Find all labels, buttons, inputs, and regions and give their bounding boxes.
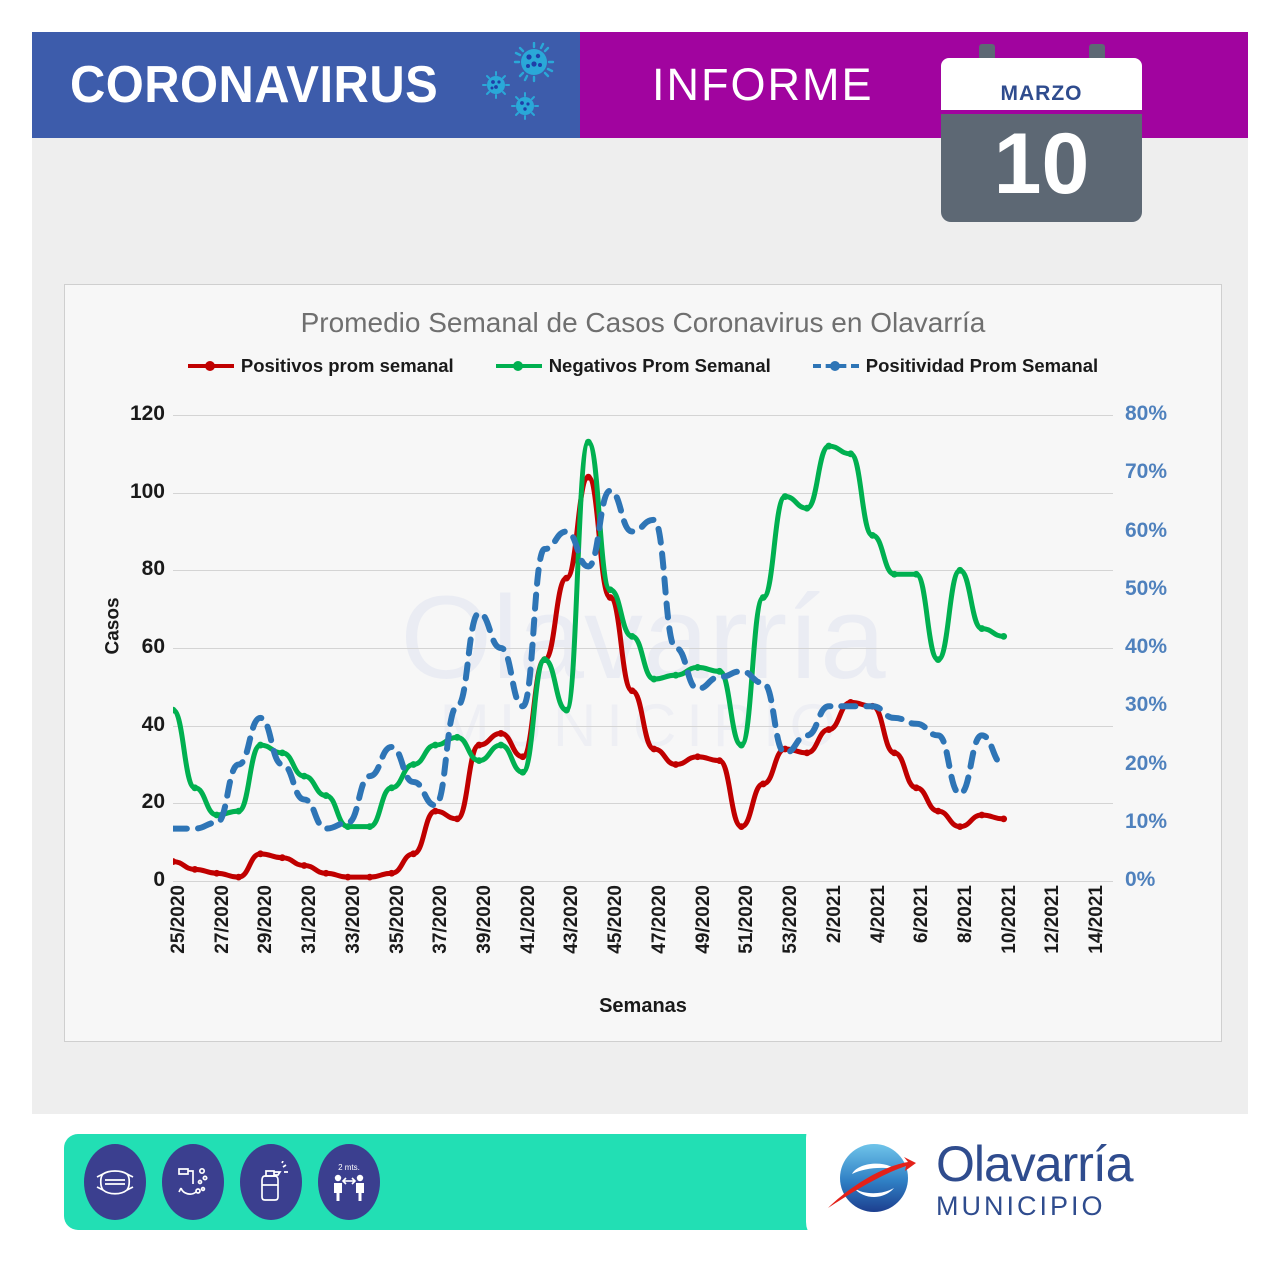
series-point-0 — [454, 815, 461, 822]
series-point-1 — [279, 749, 286, 756]
series-point-0 — [760, 781, 767, 788]
series-point-1 — [804, 505, 811, 512]
plot-area: Casos % Positividad 0204060801001200%10%… — [173, 415, 1113, 881]
header-brand-bar: CORONAVIRUS — [32, 32, 580, 138]
series-point-1 — [235, 808, 242, 815]
y2-tick-label: 10% — [1125, 810, 1222, 834]
series-point-0 — [191, 866, 198, 873]
series-point-0 — [891, 749, 898, 756]
x-tick-label: 25/2020 — [168, 885, 190, 954]
series-point-0 — [410, 850, 417, 857]
series-point-1 — [694, 664, 701, 671]
series-point-0 — [672, 761, 679, 768]
series-point-1 — [366, 823, 373, 830]
logo-subtitle: MUNICIPIO — [936, 1191, 1133, 1222]
legend-swatch-1 — [496, 359, 542, 373]
legend-label-0: Positivos prom semanal — [241, 355, 454, 377]
x-tick-label: 51/2020 — [736, 885, 758, 954]
x-tick-label: 27/2020 — [212, 885, 234, 954]
series-point-0 — [651, 746, 658, 753]
series-point-1 — [607, 586, 614, 593]
series-point-1 — [410, 761, 417, 768]
x-tick-label: 10/2021 — [999, 885, 1021, 954]
series-point-1 — [847, 450, 854, 457]
series-point-1 — [519, 769, 526, 776]
distance-text: 2 mts. — [338, 1163, 360, 1172]
series-point-0 — [498, 730, 505, 737]
x-tick-label: 29/2020 — [255, 885, 277, 954]
legend-label-2: Positividad Prom Semanal — [866, 355, 1098, 377]
series-point-0 — [978, 812, 985, 819]
prevention-bar: 2 mts. — [64, 1134, 834, 1230]
series-point-1 — [957, 567, 964, 574]
series-point-0 — [213, 870, 220, 877]
series-point-0 — [738, 823, 745, 830]
legend-swatch-2 — [813, 359, 859, 373]
y2-tick-label: 80% — [1125, 402, 1222, 426]
series-point-1 — [388, 784, 395, 791]
series-point-0 — [563, 575, 570, 582]
series-canvas — [173, 415, 1113, 881]
calendar-badge: MARZO 10 — [941, 44, 1142, 222]
y2-tick-label: 50% — [1125, 577, 1222, 601]
series-point-1 — [498, 742, 505, 749]
series-point-0 — [957, 823, 964, 830]
virus-icon — [472, 42, 582, 128]
x-tick-label: 53/2020 — [780, 885, 802, 954]
series-point-1 — [344, 823, 351, 830]
series-point-1 — [913, 571, 920, 578]
series-point-0 — [519, 753, 526, 760]
chart-card: Olavarría MUNICIPIO Promedio Semanal de … — [64, 284, 1222, 1042]
series-point-1 — [585, 439, 592, 446]
series-point-1 — [563, 707, 570, 714]
chart-legend: Positivos prom semanalNegativos Prom Sem… — [65, 355, 1221, 377]
series-point-0 — [804, 749, 811, 756]
y2-tick-label: 20% — [1125, 752, 1222, 776]
series-point-1 — [716, 668, 723, 675]
logo-text: Olavarría MUNICIPIO — [936, 1139, 1133, 1222]
mask-icon — [84, 1144, 146, 1220]
series-point-1 — [454, 734, 461, 741]
series-point-1 — [738, 742, 745, 749]
legend-swatch-0 — [188, 359, 234, 373]
x-tick-label: 31/2020 — [299, 885, 321, 954]
calendar-body: 10 — [941, 114, 1142, 222]
social-distance-icon: 2 mts. — [318, 1144, 380, 1220]
series-point-0 — [913, 784, 920, 791]
series-point-1 — [760, 594, 767, 601]
y-tick-label: 80 — [64, 557, 165, 581]
series-point-0 — [476, 742, 483, 749]
x-tick-label: 4/2021 — [868, 885, 890, 943]
calendar-month: MARZO — [1001, 82, 1083, 110]
x-tick-label: 12/2021 — [1042, 885, 1064, 954]
y-tick-label: 100 — [64, 480, 165, 504]
series-point-1 — [782, 493, 789, 500]
series-point-0 — [629, 687, 636, 694]
page-footer: 2 mts. — [64, 1134, 1216, 1240]
series-point-0 — [935, 808, 942, 815]
series-point-1 — [891, 571, 898, 578]
series-point-0 — [825, 726, 832, 733]
y2-tick-label: 40% — [1125, 635, 1222, 659]
series-point-1 — [476, 757, 483, 764]
series-point-0 — [716, 757, 723, 764]
x-tick-label: 45/2020 — [605, 885, 627, 954]
olavarria-swoosh-logo — [826, 1130, 922, 1231]
y2-tick-label: 70% — [1125, 460, 1222, 484]
x-tick-label: 35/2020 — [387, 885, 409, 954]
legend-item-2[interactable]: Positividad Prom Semanal — [813, 355, 1098, 377]
x-axis-tick-labels: 25/202027/202029/202031/202033/202035/20… — [173, 885, 1113, 991]
series-point-0 — [432, 808, 439, 815]
series-point-1 — [869, 532, 876, 539]
series-point-0 — [366, 874, 373, 881]
y2-tick-label: 0% — [1125, 868, 1222, 892]
series-point-0 — [607, 594, 614, 601]
series-point-0 — [257, 850, 264, 857]
x-tick-label: 41/2020 — [518, 885, 540, 954]
handwash-icon — [162, 1144, 224, 1220]
page-title: CORONAVIRUS — [70, 55, 438, 115]
series-point-0 — [694, 753, 701, 760]
y-tick-label: 120 — [64, 402, 165, 426]
series-point-0 — [344, 874, 351, 881]
y-tick-label: 20 — [64, 790, 165, 814]
series-point-1 — [301, 773, 308, 780]
y-tick-label: 60 — [64, 635, 165, 659]
logo-name: Olavarría — [936, 1139, 1133, 1189]
x-tick-label: 6/2021 — [911, 885, 933, 943]
y-tick-label: 40 — [64, 713, 165, 737]
series-point-0 — [388, 870, 395, 877]
series-point-1 — [672, 672, 679, 679]
y2-tick-label: 60% — [1125, 519, 1222, 543]
series-point-1 — [651, 676, 658, 683]
x-tick-label: 37/2020 — [430, 885, 452, 954]
x-tick-label: 14/2021 — [1086, 885, 1108, 954]
series-point-0 — [1000, 815, 1007, 822]
series-point-1 — [191, 784, 198, 791]
series-point-1 — [323, 792, 330, 799]
series-point-1 — [432, 742, 439, 749]
series-point-1 — [541, 656, 548, 663]
series-point-0 — [235, 874, 242, 881]
series-point-1 — [825, 443, 832, 450]
calendar-day: 10 — [994, 121, 1090, 207]
series-point-1 — [629, 633, 636, 640]
x-tick-label: 47/2020 — [649, 885, 671, 954]
x-tick-label: 8/2021 — [955, 885, 977, 943]
series-point-1 — [257, 742, 264, 749]
series-point-1 — [1000, 633, 1007, 640]
legend-item-1[interactable]: Negativos Prom Semanal — [496, 355, 771, 377]
chart-title: Promedio Semanal de Casos Coronavirus en… — [65, 307, 1221, 339]
legend-item-0[interactable]: Positivos prom semanal — [188, 355, 454, 377]
sanitizer-spray-icon — [240, 1144, 302, 1220]
y-tick-label: 0 — [64, 868, 165, 892]
x-tick-label: 43/2020 — [561, 885, 583, 954]
series-point-0 — [279, 854, 286, 861]
gridline — [173, 881, 1113, 882]
report-page: CORONAVIRUS — [0, 0, 1280, 1280]
x-tick-label: 33/2020 — [343, 885, 365, 954]
series-point-1 — [978, 625, 985, 632]
x-axis-label: Semanas — [65, 995, 1221, 1018]
header-section-bar: INFORME — [580, 32, 1248, 138]
olavarria-logo: Olavarría MUNICIPIO — [806, 1116, 1216, 1244]
series-point-0 — [301, 862, 308, 869]
x-tick-label: 49/2020 — [693, 885, 715, 954]
series-point-0 — [323, 870, 330, 877]
series-point-1 — [935, 656, 942, 663]
legend-label-1: Negativos Prom Semanal — [549, 355, 771, 377]
y2-tick-label: 30% — [1125, 693, 1222, 717]
x-tick-label: 2/2021 — [824, 885, 846, 943]
section-title: INFORME — [652, 59, 874, 111]
calendar-header: MARZO — [941, 58, 1142, 114]
x-tick-label: 39/2020 — [474, 885, 496, 954]
series-point-0 — [585, 474, 592, 481]
series-line-1 — [173, 442, 1004, 826]
